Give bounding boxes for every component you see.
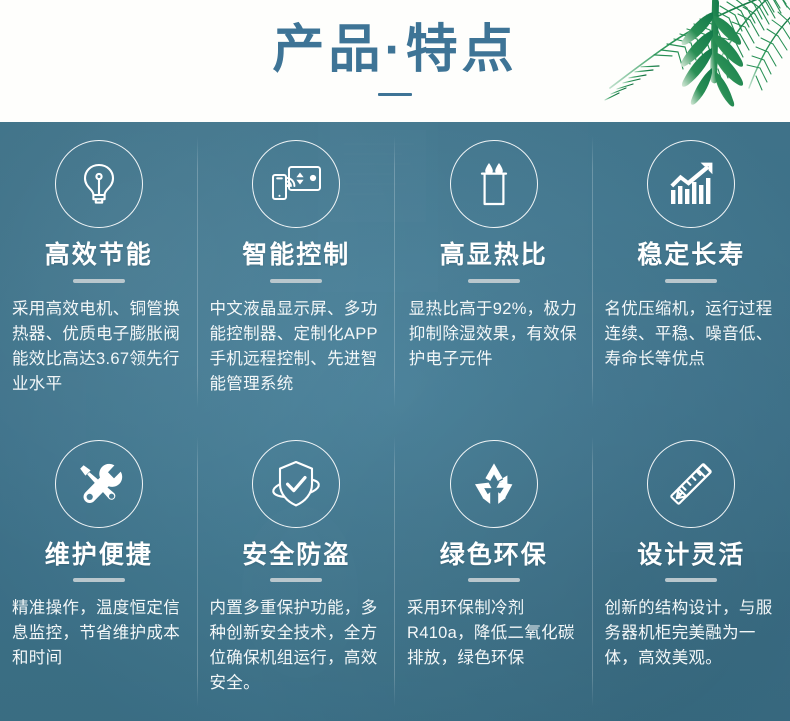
feature-title: 高效节能 (45, 242, 153, 270)
features-panel: 高效节能 采用高效电机、铜管换热器、优质电子膨胀阀能效比高达3.67领先行业水平 (0, 122, 790, 721)
feature-description: 创新的结构设计，与服务器机柜完美融为一体，高效美观。 (605, 596, 779, 671)
smart-remote-control-icon (252, 140, 340, 228)
feature-card-flexible-design: 设计灵活 创新的结构设计，与服务器机柜完美融为一体，高效美观。 (593, 422, 790, 721)
pencil-ruler-icon (647, 440, 735, 528)
feature-title: 安全防盗 (242, 542, 350, 570)
feature-title: 稳定长寿 (637, 242, 745, 270)
shield-check-icon (252, 440, 340, 528)
title-rule (73, 578, 125, 582)
feature-description: 采用环保制冷剂R410a，降低二氧化碳排放，绿色环保 (407, 596, 581, 671)
page-header: 产品·特点 (0, 0, 790, 122)
feature-title: 维护便捷 (45, 542, 153, 570)
feature-description: 采用高效电机、铜管换热器、优质电子膨胀阀能效比高达3.67领先行业水平 (12, 297, 186, 397)
title-rule (468, 578, 520, 582)
title-rule (270, 578, 322, 582)
feature-title: 设计灵活 (637, 542, 745, 570)
title-rule (665, 578, 717, 582)
features-grid: 高效节能 采用高效电机、铜管换热器、优质电子膨胀阀能效比高达3.67领先行业水平 (0, 122, 790, 721)
feature-card-easy-maintenance: 维护便捷 精准操作，温度恒定信息监控，节省维护成本和时间 (0, 422, 198, 721)
feature-card-stable-longevity: 稳定长寿 名优压缩机，运行过程连续、平稳、噪音低、寿命长等优点 (593, 122, 790, 422)
feature-description: 精准操作，温度恒定信息监控，节省维护成本和时间 (12, 596, 186, 671)
feature-description: 显热比高于92%，极力抑制除湿效果，有效保护电子元件 (409, 297, 579, 372)
feature-description: 内置多重保护功能，多种创新安全技术，全方位确保机组运行，高效安全。 (210, 596, 384, 696)
feature-card-smart-control: 智能控制 中文液晶显示屏、多功能控制器、定制化APP手机远程控制、先进智能管理系… (198, 122, 396, 422)
feature-title: 高显热比 (440, 242, 548, 270)
title-rule (468, 279, 520, 283)
feature-title: 绿色环保 (440, 542, 548, 570)
recycle-icon (450, 440, 538, 528)
title-rule (270, 279, 322, 283)
title-rule (665, 279, 717, 283)
feature-card-security: 安全防盗 内置多重保护功能，多种创新安全技术，全方位确保机组运行，高效安全。 (198, 422, 396, 721)
humidity-droplets-icon (450, 140, 538, 228)
feature-card-eco-friendly: 绿色环保 采用环保制冷剂R410a，降低二氧化碳排放，绿色环保 (395, 422, 593, 721)
feature-card-sensible-heat-ratio: 高显热比 显热比高于92%，极力抑制除湿效果，有效保护电子元件 (395, 122, 593, 422)
feature-card-energy-saving: 高效节能 采用高效电机、铜管换热器、优质电子膨胀阀能效比高达3.67领先行业水平 (0, 122, 198, 422)
title-underline-dash (378, 93, 412, 96)
product-features-page: 产品·特点 (0, 0, 790, 721)
growth-chart-icon (647, 140, 735, 228)
feature-description: 名优压缩机，运行过程连续、平稳、噪音低、寿命长等优点 (605, 297, 779, 372)
page-title: 产品·特点 (0, 24, 790, 76)
feature-title: 智能控制 (242, 242, 350, 270)
tools-wrench-screwdriver-icon (55, 440, 143, 528)
lightbulb-icon (55, 140, 143, 228)
feature-description: 中文液晶显示屏、多功能控制器、定制化APP手机远程控制、先进智能管理系统 (210, 297, 384, 397)
title-rule (73, 279, 125, 283)
